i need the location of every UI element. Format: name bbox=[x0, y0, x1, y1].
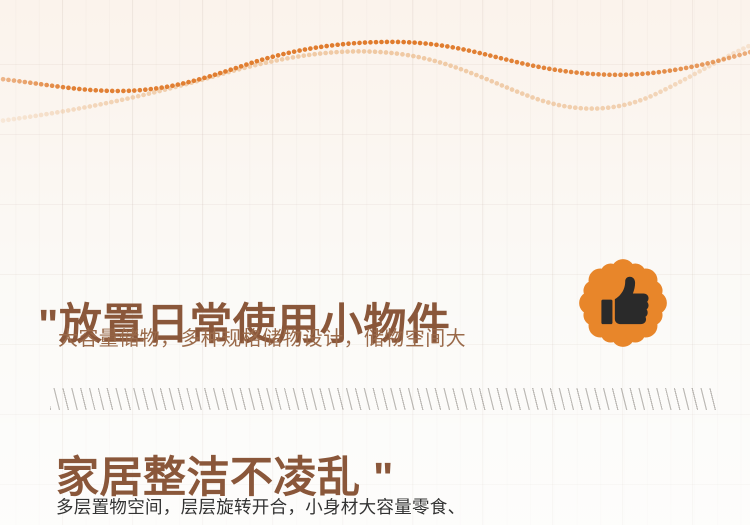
thumbs-up-badge-graphic bbox=[575, 255, 671, 351]
subtitle: 大容量储物，多种规格储物设计，储物空间大 bbox=[58, 325, 466, 353]
product-feature-banner: "放置日常使用小物件 家居整洁不凌乱 " 大容量储物，多种规格储物设计，储物空间… bbox=[0, 0, 750, 525]
body-copy-line-1: 多层置物空间，层层旋转开合，小身材大容量零食、 bbox=[56, 494, 465, 521]
dotted-wave-primary bbox=[0, 42, 750, 91]
diagonal-hatch-divider bbox=[50, 388, 718, 410]
dotted-wave-secondary bbox=[0, 42, 750, 122]
dotted-wave-decoration bbox=[0, 0, 750, 165]
body-copy: 多层置物空间，层层旋转开合，小身材大容量零食、 化妆品、杂志满足日常收纳. bbox=[56, 440, 465, 525]
thumbs-up-badge bbox=[575, 255, 671, 351]
